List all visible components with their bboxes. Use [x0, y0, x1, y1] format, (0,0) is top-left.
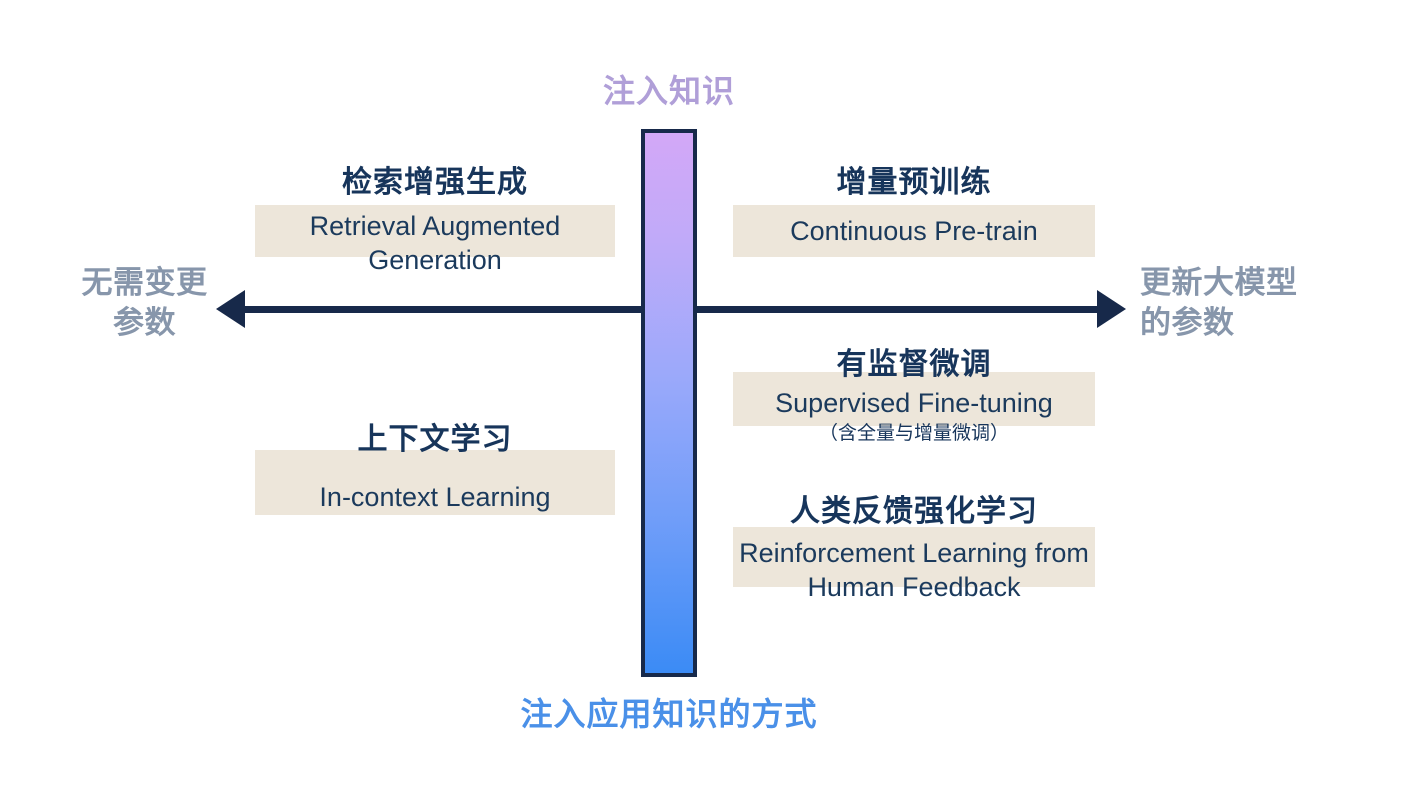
quadrant-item-supervised-finetuning-cn: 有监督微调: [723, 348, 1105, 383]
quadrant-item-supervised-finetuning-note: （含全量与增量微调）: [723, 423, 1105, 446]
quadrant-item-continuous-pretrain-cn: 增量预训练: [723, 166, 1105, 201]
knowledge-gradient-bar: [641, 129, 697, 677]
right-arrow-icon: [1097, 290, 1126, 328]
quadrant-item-rlhf: 人类反馈强化学习 Reinforcement Learning from Hum…: [713, 495, 1115, 604]
quadrant-item-supervised-finetuning: 有监督微调 Supervised Fine-tuning （含全量与增量微调）: [723, 348, 1105, 445]
quadrant-item-rag: 检索增强生成 Retrieval Augmented Generation: [235, 166, 635, 277]
quadrant-item-incontext-learning-cn: 上下文学习: [235, 423, 635, 458]
quadrant-item-continuous-pretrain-en: Continuous Pre-train: [723, 214, 1105, 248]
left-arrow-icon: [216, 290, 245, 328]
quadrant-item-rag-cn: 检索增强生成: [235, 166, 635, 201]
axis-label-left: 无需变更参数: [77, 263, 212, 342]
quadrant-item-rlhf-cn: 人类反馈强化学习: [713, 495, 1115, 530]
quadrant-item-incontext-learning-en: In-context Learning: [235, 480, 635, 514]
quadrant-item-rag-en: Retrieval Augmented Generation: [235, 209, 635, 277]
top-caption: 注入知识: [469, 66, 869, 112]
quadrant-item-supervised-finetuning-en: Supervised Fine-tuning: [723, 386, 1105, 420]
quadrant-item-incontext-learning: 上下文学习 In-context Learning: [235, 423, 635, 514]
axis-label-right: 更新大模型的参数: [1140, 263, 1308, 342]
quadrant-item-rlhf-en: Reinforcement Learning from Human Feedba…: [713, 536, 1115, 604]
diagram-canvas: 注入知识 无需变更参数 更新大模型的参数 检索增强生成 Retrieval Au…: [0, 0, 1401, 804]
quadrant-item-continuous-pretrain: 增量预训练 Continuous Pre-train: [723, 166, 1105, 248]
bottom-caption: 注入应用知识的方式: [439, 689, 899, 735]
